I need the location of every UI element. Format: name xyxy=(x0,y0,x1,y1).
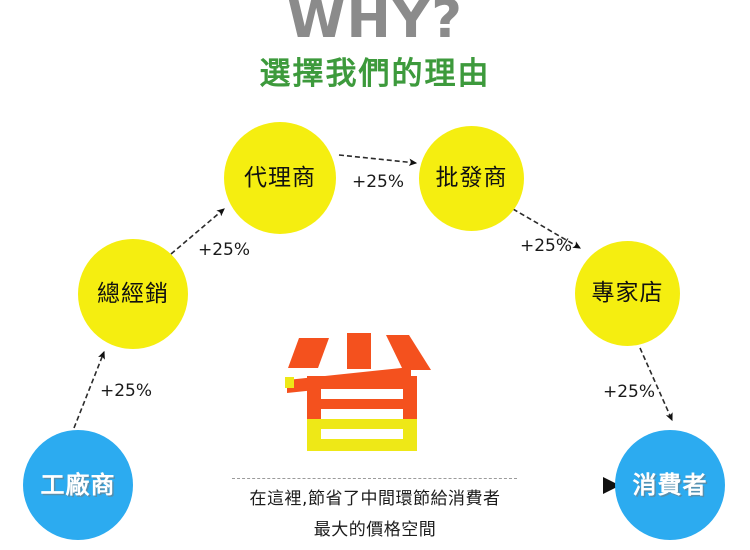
markup-agent-to-wholesaler: +25% xyxy=(352,172,404,192)
node-wholesaler[interactable]: 批發商 xyxy=(419,126,524,231)
markup-distributor-to-agent: +25% xyxy=(198,240,250,260)
node-wholesaler-label: 批發商 xyxy=(436,167,508,190)
connector-agent-to-wholesaler xyxy=(339,155,416,163)
markup-specialty-to-consumer: +25% xyxy=(603,382,655,402)
node-general-distributor[interactable]: 總經銷 xyxy=(78,239,188,349)
infographic-canvas: WHY? 選擇我們的理由 工廠商 總經銷 代理商 批發商 專家店 xyxy=(0,0,750,550)
caption-line-1: 在這裡,節省了中間環節給消費者 xyxy=(0,484,750,509)
node-specialty-store[interactable]: 專家店 xyxy=(575,241,680,346)
node-agent[interactable]: 代理商 xyxy=(224,122,336,234)
node-specialty-store-label: 專家店 xyxy=(592,282,664,305)
caption-divider xyxy=(232,478,517,479)
caption-line-2: 最大的價格空間 xyxy=(0,515,750,540)
node-agent-label: 代理商 xyxy=(244,167,316,190)
markup-wholesaler-to-specialty: +25% xyxy=(520,236,572,256)
node-general-distributor-label: 總經銷 xyxy=(97,283,169,306)
save-glyph-icon xyxy=(285,333,440,451)
markup-factory-to-distributor: +25% xyxy=(100,381,152,401)
